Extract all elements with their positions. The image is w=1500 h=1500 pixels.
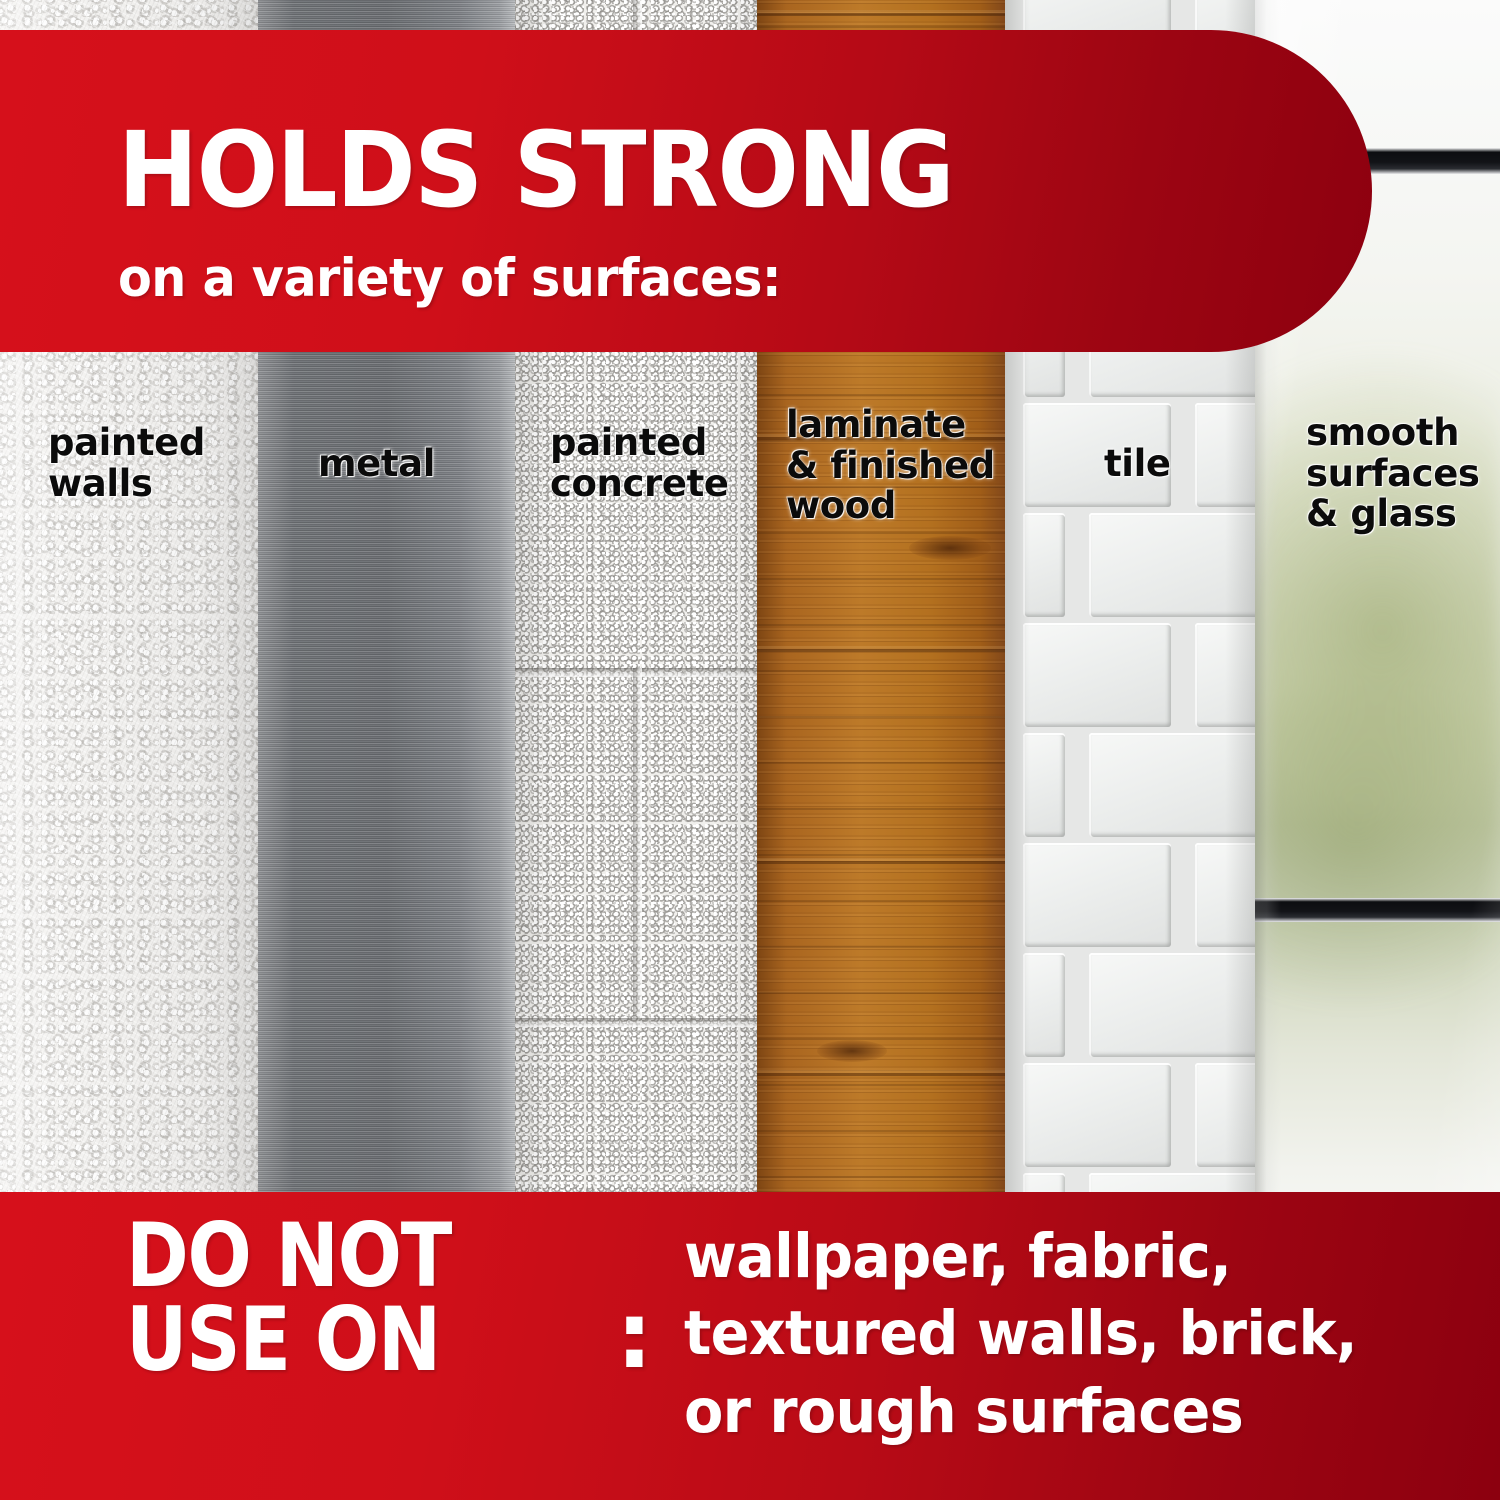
surface-label-laminate-wood: laminate & finished wood <box>786 405 995 527</box>
page-title: HOLDS STRONG <box>118 118 953 222</box>
wood-knot <box>909 536 991 560</box>
do-not-use-banner: DO NOT USE ON : wallpaper, fabric, textu… <box>0 1192 1500 1500</box>
warning-items-list: wallpaper, fabric, textured walls, brick… <box>684 1218 1357 1450</box>
surface-label-metal: metal <box>318 444 435 485</box>
product-surface-infographic: painted walls metal painted concrete lam… <box>0 0 1500 1500</box>
surface-label-painted-walls: painted walls <box>48 423 205 504</box>
surface-label-painted-concrete: painted concrete <box>550 423 729 504</box>
surface-label-smooth-glass: smooth surfaces & glass <box>1306 413 1480 535</box>
holds-strong-banner: HOLDS STRONG on a variety of surfaces: <box>0 30 1372 352</box>
warning-colon: : <box>616 1290 653 1382</box>
surface-label-tile: tile <box>1104 444 1171 485</box>
page-subtitle: on a variety of surfaces: <box>118 252 781 305</box>
warning-heading: DO NOT USE ON <box>126 1214 451 1383</box>
wood-knot <box>817 1040 887 1062</box>
